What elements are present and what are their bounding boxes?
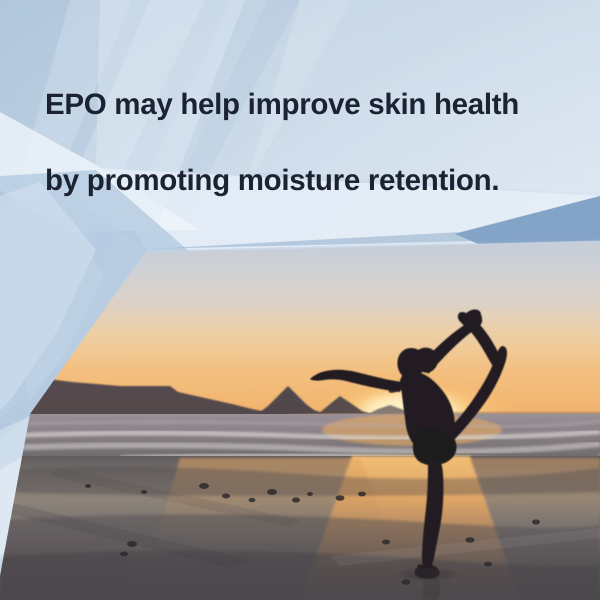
headline-line-1: EPO may help improve skin health (45, 86, 565, 124)
poster-canvas: EPO may help improve skin health by prom… (0, 0, 600, 600)
headline-text: EPO may help improve skin health by prom… (45, 48, 565, 238)
sea (0, 414, 600, 462)
wet-sand-beach (0, 456, 600, 600)
headline-line-2: by promoting moisture retention. (45, 162, 565, 200)
